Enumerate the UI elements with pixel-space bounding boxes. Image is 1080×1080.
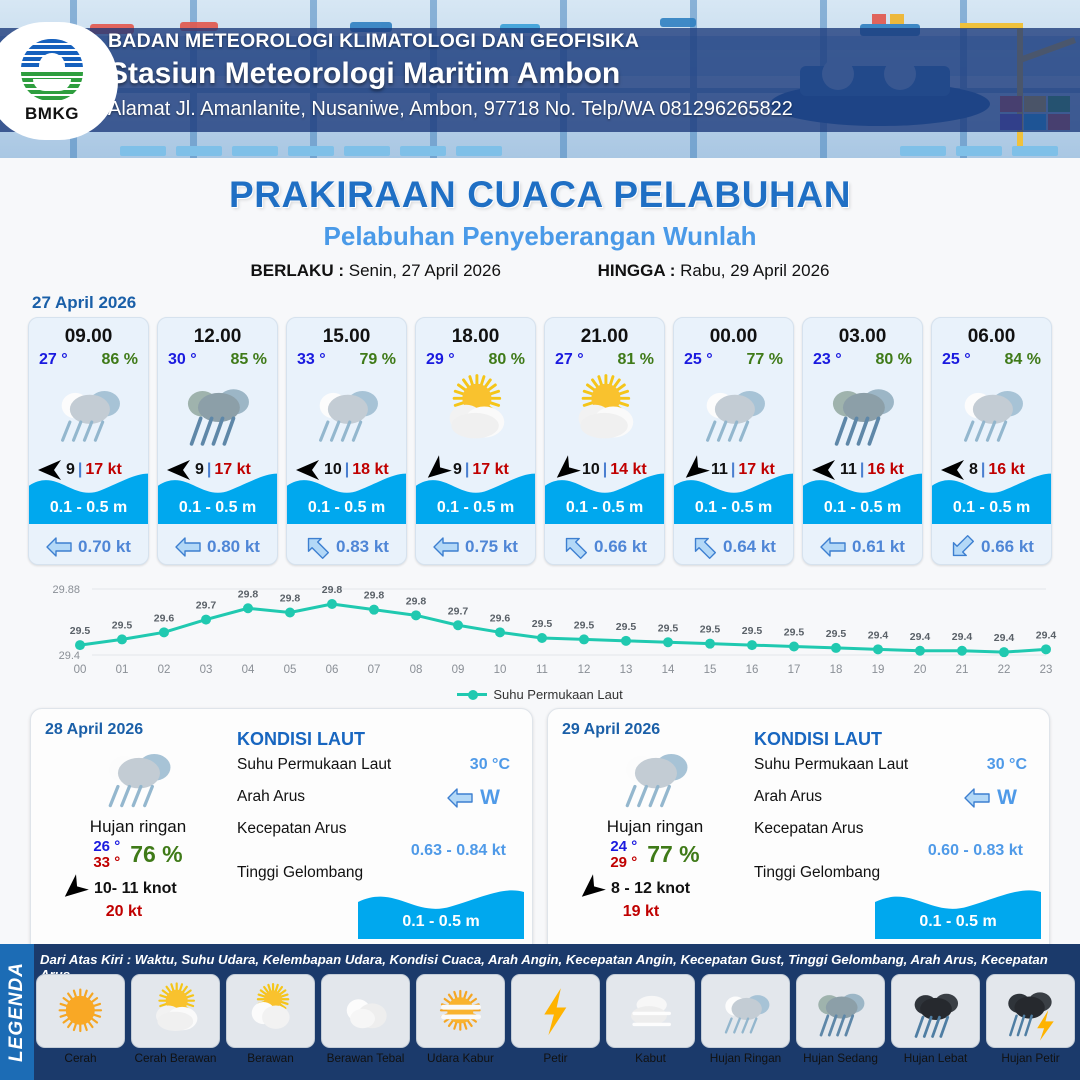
- card-weather-icon-hujan-ringan: [674, 369, 793, 455]
- card-current-speed: 0.61 kt: [852, 537, 905, 557]
- current-direction-label: Arah Arus: [237, 788, 305, 805]
- legend-icon-berawan: [226, 974, 315, 1048]
- svg-text:19: 19: [872, 664, 885, 676]
- svg-text:11: 11: [536, 664, 548, 676]
- forecast-card: 06.00 25 ° 84 % 8 | 16 kt 0.1 - 0.5 m: [931, 317, 1052, 565]
- card-humidity: 79 %: [360, 351, 396, 369]
- panel-condition: Hujan ringan: [562, 817, 748, 837]
- daily-forecast-panels: 28 April 2026 Hujan ringan 26 ° 33 ° 76 …: [0, 702, 1080, 956]
- svg-text:29.5: 29.5: [700, 624, 721, 636]
- svg-text:29.88: 29.88: [52, 584, 80, 596]
- card-humidity: 84 %: [1005, 351, 1041, 369]
- card-temperature: 29 °: [426, 351, 455, 369]
- current-speed-value: 0.63 - 0.84 kt: [411, 842, 506, 860]
- sst-label: Suhu Permukaan Laut: [237, 756, 391, 773]
- forecast-card: 09.00 27 ° 86 % 9 | 17 kt 0.1 - 0.5 m: [28, 317, 149, 565]
- wave-height-label: Tinggi Gelombang: [237, 864, 363, 881]
- legend-item: Cerah Berawan: [131, 974, 220, 1065]
- legend-item-label: Cerah: [36, 1051, 125, 1065]
- svg-text:29.4: 29.4: [59, 650, 80, 662]
- bmkg-logo-text: BMKG: [25, 104, 79, 124]
- card-current-speed: 0.64 kt: [723, 537, 776, 557]
- card-wave-height: 0.1 - 0.5 m: [803, 499, 922, 517]
- svg-text:06: 06: [326, 664, 339, 676]
- panel-sea-conditions: KONDISI LAUT Suhu Permukaan Laut 30 °C A…: [748, 709, 1049, 955]
- current-speed-value: 0.60 - 0.83 kt: [928, 842, 1023, 860]
- svg-text:15: 15: [704, 664, 717, 676]
- legend-icon-hujan-ringan: [701, 974, 790, 1048]
- card-temperature: 27 °: [39, 351, 68, 369]
- current-direction-value: W: [480, 786, 500, 810]
- panel-temp-min: 24 °: [610, 839, 637, 855]
- card-temperature: 27 °: [555, 351, 584, 369]
- station-contact: Alamat Jl. Amanlanite, Nusaniwe, Ambon, …: [108, 98, 793, 121]
- svg-text:29.8: 29.8: [280, 593, 301, 605]
- svg-text:29.8: 29.8: [238, 588, 259, 600]
- sea-conditions-title: KONDISI LAUT: [237, 729, 516, 750]
- page-title: PRAKIRAAN CUACA PELABUHAN: [0, 174, 1080, 216]
- svg-text:20: 20: [914, 664, 927, 676]
- card-time: 18.00: [416, 318, 535, 348]
- current-speed-row: Kecepatan Arus 0.60 - 0.83 kt: [754, 820, 1033, 852]
- berlaku-value: Senin, 27 April 2026: [349, 261, 501, 280]
- card-wave-height: 0.1 - 0.5 m: [932, 499, 1051, 517]
- svg-text:09: 09: [452, 664, 465, 676]
- legend-item-label: Hujan Lebat: [891, 1051, 980, 1065]
- legend-item: Kabut: [606, 974, 695, 1065]
- svg-text:29.8: 29.8: [406, 595, 427, 607]
- card-current-direction-arrow-icon: [562, 536, 588, 558]
- svg-text:29.5: 29.5: [784, 627, 805, 639]
- panel-current-direction-arrow-icon: [447, 787, 473, 809]
- sst-value: 30 °C: [987, 756, 1027, 774]
- sst-value: 30 °C: [470, 756, 510, 774]
- svg-text:29.7: 29.7: [196, 600, 217, 612]
- legend-item-label: Berawan: [226, 1051, 315, 1065]
- card-weather-icon-hujan-sedang: [803, 369, 922, 455]
- legend-icon-hujan-sedang: [796, 974, 885, 1048]
- hourly-forecast-row: 09.00 27 ° 86 % 9 | 17 kt 0.1 - 0.5 m: [0, 317, 1080, 565]
- card-current-speed: 0.66 kt: [594, 537, 647, 557]
- panel-wave-value: 0.1 - 0.5 m: [875, 913, 1041, 931]
- svg-text:29.5: 29.5: [112, 619, 133, 631]
- bmkg-logo: BMKG: [0, 22, 118, 140]
- card-humidity: 85 %: [231, 351, 267, 369]
- svg-text:29.7: 29.7: [448, 605, 469, 617]
- bmkg-emblem-icon: [21, 39, 83, 101]
- svg-text:29.5: 29.5: [616, 621, 637, 633]
- validity-range: BERLAKU : Senin, 27 April 2026 HINGGA : …: [0, 261, 1080, 281]
- legend-icon-row: Cerah Cerah Berawan Berawan Berawan Teba…: [36, 974, 1080, 1065]
- legend-item-label: Petir: [511, 1051, 600, 1065]
- panel-humidity: 77 %: [647, 841, 699, 868]
- panel-sea-conditions: KONDISI LAUT Suhu Permukaan Laut 30 °C A…: [231, 709, 532, 955]
- card-weather-icon-hujan-sedang: [158, 369, 277, 455]
- panel-wave-graphic: 0.1 - 0.5 m: [875, 883, 1041, 939]
- chart-legend-marker-icon: [457, 693, 487, 696]
- legend-item-label: Hujan Petir: [986, 1051, 1075, 1065]
- card-humidity: 86 %: [102, 351, 138, 369]
- card-current-speed: 0.83 kt: [336, 537, 389, 557]
- current-direction-value: W: [997, 786, 1017, 810]
- svg-text:29.6: 29.6: [154, 612, 175, 624]
- svg-text:29.5: 29.5: [532, 618, 553, 630]
- svg-text:12: 12: [578, 664, 591, 676]
- sst-chart: 29.8829.429.50029.50129.60229.70329.8042…: [18, 575, 1062, 685]
- station-name: Stasiun Meteorologi Maritim Ambon: [108, 57, 793, 91]
- card-current-direction-arrow-icon: [949, 536, 975, 558]
- sea-conditions-title: KONDISI LAUT: [754, 729, 1033, 750]
- svg-text:29.4: 29.4: [910, 631, 931, 643]
- legend-icon-udara-kabur: [416, 974, 505, 1048]
- legend-icon-hujan-lebat: [891, 974, 980, 1048]
- legend-item: Petir: [511, 974, 600, 1065]
- card-wave-height: 0.1 - 0.5 m: [287, 499, 406, 517]
- legend-item: Cerah: [36, 974, 125, 1065]
- card-temperature: 25 °: [684, 351, 713, 369]
- legend-icon-berawan-tebal: [321, 974, 410, 1048]
- svg-text:18: 18: [830, 664, 843, 676]
- wave-height-label: Tinggi Gelombang: [754, 864, 880, 881]
- title-block: PRAKIRAAN CUACA PELABUHAN Pelabuhan Peny…: [0, 174, 1080, 281]
- legend-icon-hujan-petir: [986, 974, 1075, 1048]
- card-humidity: 80 %: [876, 351, 912, 369]
- card-weather-icon-cerah-berawan: [416, 369, 535, 455]
- card-current-speed: 0.70 kt: [78, 537, 131, 557]
- svg-text:29.8: 29.8: [364, 590, 385, 602]
- legend-item-label: Udara Kabur: [416, 1051, 505, 1065]
- card-weather-icon-hujan-ringan: [932, 369, 1051, 455]
- card-time: 15.00: [287, 318, 406, 348]
- panel-wind-speed: 10- 11 knot: [94, 880, 177, 898]
- legend-item-label: Hujan Ringan: [701, 1051, 790, 1065]
- legend-item: Berawan Tebal: [321, 974, 410, 1065]
- legend-icon-cerah-berawan: [131, 974, 220, 1048]
- page-subtitle: Pelabuhan Penyeberangan Wunlah: [0, 221, 1080, 252]
- panel-gust-speed: 20 kt: [45, 903, 231, 921]
- card-current-speed: 0.75 kt: [465, 537, 518, 557]
- panel-weather-icon-hujan-ringan: [45, 737, 231, 815]
- svg-text:07: 07: [368, 664, 381, 676]
- agency-name: BADAN METEOROLOGI KLIMATOLOGI DAN GEOFIS…: [108, 30, 793, 53]
- sst-label: Suhu Permukaan Laut: [754, 756, 908, 773]
- card-time: 00.00: [674, 318, 793, 348]
- forecast-card: 21.00 27 ° 81 % 10 | 14 kt 0.1 - 0.5 m 0…: [544, 317, 665, 565]
- svg-text:29.4: 29.4: [994, 632, 1015, 644]
- svg-text:29.8: 29.8: [322, 584, 343, 596]
- legend-side-tab: LEGENDA: [0, 944, 34, 1080]
- card-wave-height: 0.1 - 0.5 m: [545, 499, 664, 517]
- current-speed-label: Kecepatan Arus: [237, 820, 346, 837]
- card-temperature: 23 °: [813, 351, 842, 369]
- svg-text:23: 23: [1040, 664, 1053, 676]
- card-wave-height: 0.1 - 0.5 m: [416, 499, 535, 517]
- svg-text:29.5: 29.5: [574, 619, 595, 631]
- panel-temp-max: 33 °: [93, 855, 120, 871]
- daily-forecast-panel: 28 April 2026 Hujan ringan 26 ° 33 ° 76 …: [30, 708, 533, 956]
- sst-row: Suhu Permukaan Laut 30 °C: [237, 756, 516, 788]
- svg-text:16: 16: [746, 664, 759, 676]
- forecast-card: 03.00 23 ° 80 % 11 | 16 kt 0.1 - 0.5 m: [802, 317, 923, 565]
- card-humidity: 81 %: [618, 351, 654, 369]
- legend-item: Berawan: [226, 974, 315, 1065]
- card-time: 06.00: [932, 318, 1051, 348]
- legend-item: Hujan Petir: [986, 974, 1075, 1065]
- panel-weather-icon-hujan-ringan: [562, 737, 748, 815]
- legend-item: Hujan Sedang: [796, 974, 885, 1065]
- card-current-direction-arrow-icon: [46, 536, 72, 558]
- card-temperature: 25 °: [942, 351, 971, 369]
- svg-text:08: 08: [410, 664, 423, 676]
- legend-item-label: Hujan Sedang: [796, 1051, 885, 1065]
- svg-text:29.4: 29.4: [952, 631, 973, 643]
- current-speed-row: Kecepatan Arus 0.63 - 0.84 kt: [237, 820, 516, 852]
- legend-section: LEGENDA Dari Atas Kiri : Waktu, Suhu Uda…: [0, 944, 1080, 1080]
- current-direction-label: Arah Arus: [754, 788, 822, 805]
- legend-item-label: Cerah Berawan: [131, 1051, 220, 1065]
- card-humidity: 77 %: [747, 351, 783, 369]
- svg-text:22: 22: [998, 664, 1011, 676]
- legend-item: Hujan Lebat: [891, 974, 980, 1065]
- card-time: 12.00: [158, 318, 277, 348]
- card-time: 03.00: [803, 318, 922, 348]
- panel-gust-speed: 19 kt: [562, 903, 748, 921]
- legend-icon-cerah: [36, 974, 125, 1048]
- card-wave-height: 0.1 - 0.5 m: [29, 499, 148, 517]
- svg-text:29.4: 29.4: [1036, 629, 1057, 641]
- forecast-card: 00.00 25 ° 77 % 11 | 17 kt 0.1 - 0.5 m: [673, 317, 794, 565]
- panel-condition: Hujan ringan: [45, 817, 231, 837]
- svg-text:29.5: 29.5: [658, 622, 679, 634]
- current-direction-row: Arah Arus W: [237, 788, 516, 820]
- page-header: BMKG BADAN METEOROLOGI KLIMATOLOGI DAN G…: [0, 0, 1080, 158]
- svg-text:17: 17: [788, 664, 801, 676]
- berlaku-label: BERLAKU :: [251, 261, 345, 280]
- card-current-speed: 0.80 kt: [207, 537, 260, 557]
- svg-text:04: 04: [242, 664, 255, 676]
- card-weather-icon-cerah-berawan: [545, 369, 664, 455]
- card-weather-icon-hujan-ringan: [29, 369, 148, 455]
- panel-wind-direction-arrow-icon: [578, 878, 604, 900]
- svg-text:29.5: 29.5: [70, 625, 91, 637]
- svg-text:14: 14: [662, 664, 675, 676]
- card-weather-icon-hujan-ringan: [287, 369, 406, 455]
- current-direction-row: Arah Arus W: [754, 788, 1033, 820]
- card-temperature: 30 °: [168, 351, 197, 369]
- current-speed-label: Kecepatan Arus: [754, 820, 863, 837]
- panel-wave-value: 0.1 - 0.5 m: [358, 913, 524, 931]
- legend-side-label: LEGENDA: [6, 962, 28, 1062]
- panel-wind-speed: 8 - 12 knot: [611, 880, 690, 898]
- svg-text:29.6: 29.6: [490, 612, 511, 624]
- forecast-card: 15.00 33 ° 79 % 10 | 18 kt 0.1 - 0.5 m: [286, 317, 407, 565]
- forecast-card: 12.00 30 ° 85 % 9 | 17 kt 0.1 - 0.5 m: [157, 317, 278, 565]
- panel-left-summary: 28 April 2026 Hujan ringan 26 ° 33 ° 76 …: [31, 709, 231, 955]
- svg-text:01: 01: [116, 664, 129, 676]
- header-text-block: BADAN METEOROLOGI KLIMATOLOGI DAN GEOFIS…: [108, 30, 793, 121]
- card-current-speed: 0.66 kt: [981, 537, 1034, 557]
- svg-text:29.5: 29.5: [742, 625, 763, 637]
- legend-item-label: Kabut: [606, 1051, 695, 1065]
- card-time: 09.00: [29, 318, 148, 348]
- card-wave-height: 0.1 - 0.5 m: [158, 499, 277, 517]
- svg-text:03: 03: [200, 664, 213, 676]
- card-current-direction-arrow-icon: [691, 536, 717, 558]
- svg-text:13: 13: [620, 664, 633, 676]
- legend-item: Udara Kabur: [416, 974, 505, 1065]
- card-current-direction-arrow-icon: [175, 536, 201, 558]
- chart-legend: Suhu Permukaan Laut: [0, 687, 1080, 702]
- legend-item-label: Berawan Tebal: [321, 1051, 410, 1065]
- svg-text:29.5: 29.5: [826, 628, 847, 640]
- svg-text:29.4: 29.4: [868, 629, 889, 641]
- svg-text:10: 10: [494, 664, 507, 676]
- card-humidity: 80 %: [489, 351, 525, 369]
- legend-icon-kabut: [606, 974, 695, 1048]
- hingga-value: Rabu, 29 April 2026: [680, 261, 829, 280]
- daily-forecast-panel: 29 April 2026 Hujan ringan 24 ° 29 ° 77 …: [547, 708, 1050, 956]
- panel-humidity: 76 %: [130, 841, 182, 868]
- forecast-day-label: 27 April 2026: [32, 293, 1080, 313]
- svg-text:21: 21: [956, 664, 969, 676]
- panel-left-summary: 29 April 2026 Hujan ringan 24 ° 29 ° 77 …: [548, 709, 748, 955]
- hingga-label: HINGGA :: [598, 261, 676, 280]
- panel-current-direction-arrow-icon: [964, 787, 990, 809]
- card-time: 21.00: [545, 318, 664, 348]
- card-current-direction-arrow-icon: [820, 536, 846, 558]
- sst-row: Suhu Permukaan Laut 30 °C: [754, 756, 1033, 788]
- svg-text:05: 05: [284, 664, 297, 676]
- card-current-direction-arrow-icon: [304, 536, 330, 558]
- card-current-direction-arrow-icon: [433, 536, 459, 558]
- card-temperature: 33 °: [297, 351, 326, 369]
- panel-temp-max: 29 °: [610, 855, 637, 871]
- panel-wave-graphic: 0.1 - 0.5 m: [358, 883, 524, 939]
- legend-item: Hujan Ringan: [701, 974, 790, 1065]
- svg-text:00: 00: [74, 664, 87, 676]
- panel-temp-min: 26 °: [93, 839, 120, 855]
- chart-legend-label: Suhu Permukaan Laut: [493, 687, 622, 702]
- card-wave-height: 0.1 - 0.5 m: [674, 499, 793, 517]
- svg-text:02: 02: [158, 664, 171, 676]
- panel-wind-direction-arrow-icon: [61, 878, 87, 900]
- legend-icon-petir: [511, 974, 600, 1048]
- forecast-card: 18.00 29 ° 80 % 9 | 17 kt 0.1 - 0.5 m 0.…: [415, 317, 536, 565]
